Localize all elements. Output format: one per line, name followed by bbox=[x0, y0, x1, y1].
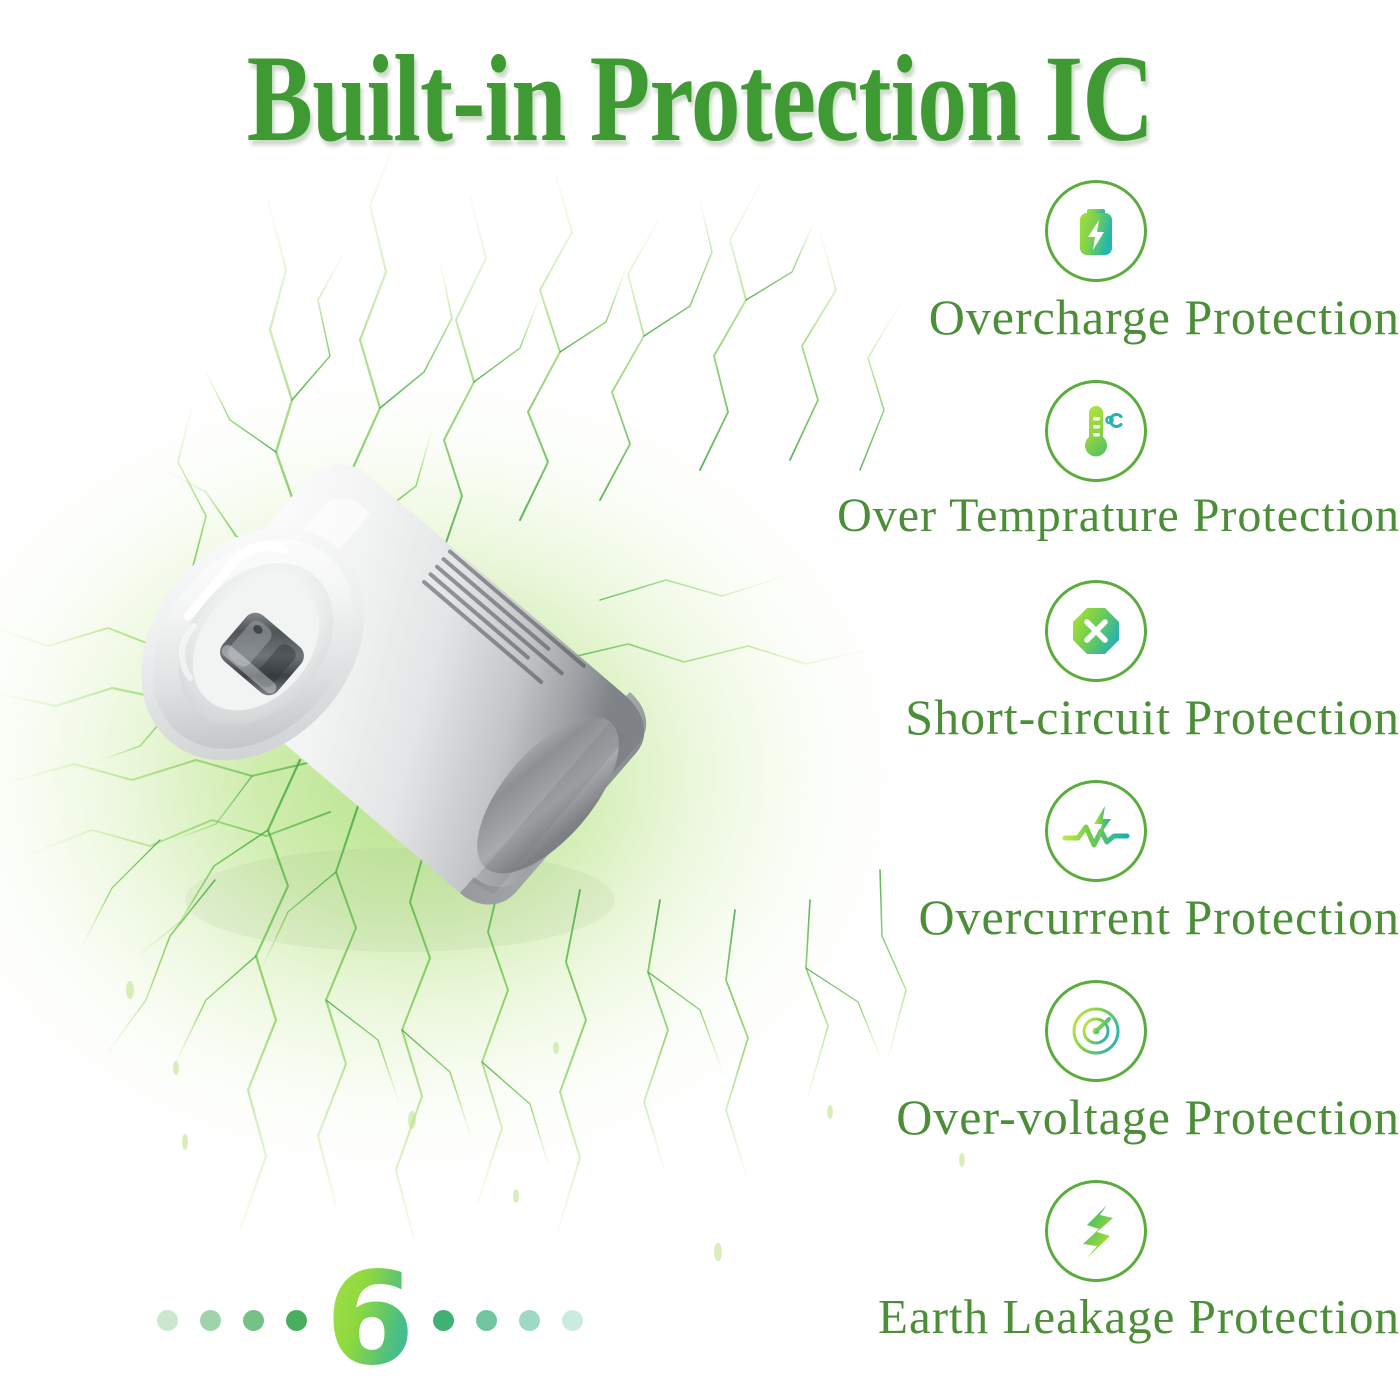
badge-dots-right bbox=[433, 1310, 583, 1331]
feature-item[interactable]: Over Temprature Protection bbox=[620, 380, 1400, 580]
gauge-icon bbox=[1045, 980, 1147, 1082]
badge-dots-left bbox=[157, 1310, 307, 1331]
product-image-battery: 14250 Model: 14250 Voltage: 3.7V Capacit… bbox=[70, 430, 710, 1030]
earth-leakage-bolt-icon bbox=[1045, 1180, 1147, 1282]
battery-spec-model: Model: 14250 bbox=[424, 993, 588, 1030]
feature-label: Over-voltage Protection bbox=[620, 1088, 1400, 1146]
feature-label: Overcurrent Protection bbox=[620, 888, 1400, 946]
dot bbox=[243, 1310, 264, 1331]
feature-item[interactable]: Overcurrent Protection bbox=[620, 780, 1400, 980]
feature-label: Short-circuit Protection bbox=[620, 688, 1400, 746]
feature-label: Over Temprature Protection bbox=[620, 488, 1400, 543]
dot bbox=[476, 1310, 497, 1331]
battery-illustration: 14250 Model: 14250 Voltage: 3.7V Capacit… bbox=[70, 430, 710, 1030]
x-octagon-icon bbox=[1045, 580, 1147, 682]
count-number: 6 bbox=[325, 1256, 414, 1384]
dot bbox=[157, 1310, 178, 1331]
thermometer-celsius-icon bbox=[1045, 380, 1147, 482]
feature-label: Earth Leakage Protection bbox=[620, 1288, 1400, 1345]
dot bbox=[286, 1310, 307, 1331]
count-badge: 6 bbox=[150, 1255, 590, 1385]
battery-bolt-icon bbox=[1045, 180, 1147, 282]
dot bbox=[519, 1310, 540, 1331]
feature-item[interactable]: Overcharge Protection bbox=[620, 180, 1400, 380]
feature-item[interactable]: Over-voltage Protection bbox=[620, 980, 1400, 1180]
current-waveform-bolt-icon bbox=[1045, 780, 1147, 882]
battery-spec-voltage: Voltage: 3.7V bbox=[405, 1021, 569, 1030]
feature-item[interactable]: Short-circuit Protection bbox=[620, 580, 1400, 780]
feature-label: Overcharge Protection bbox=[620, 288, 1400, 346]
dot bbox=[200, 1310, 221, 1331]
dot bbox=[562, 1310, 583, 1331]
page-title: Built-in Protection IC bbox=[140, 34, 1260, 164]
dot bbox=[433, 1310, 454, 1331]
feature-item[interactable]: Earth Leakage Protection bbox=[620, 1180, 1400, 1380]
feature-list: Overcharge Protection Over Temprature Pr… bbox=[620, 180, 1400, 1380]
